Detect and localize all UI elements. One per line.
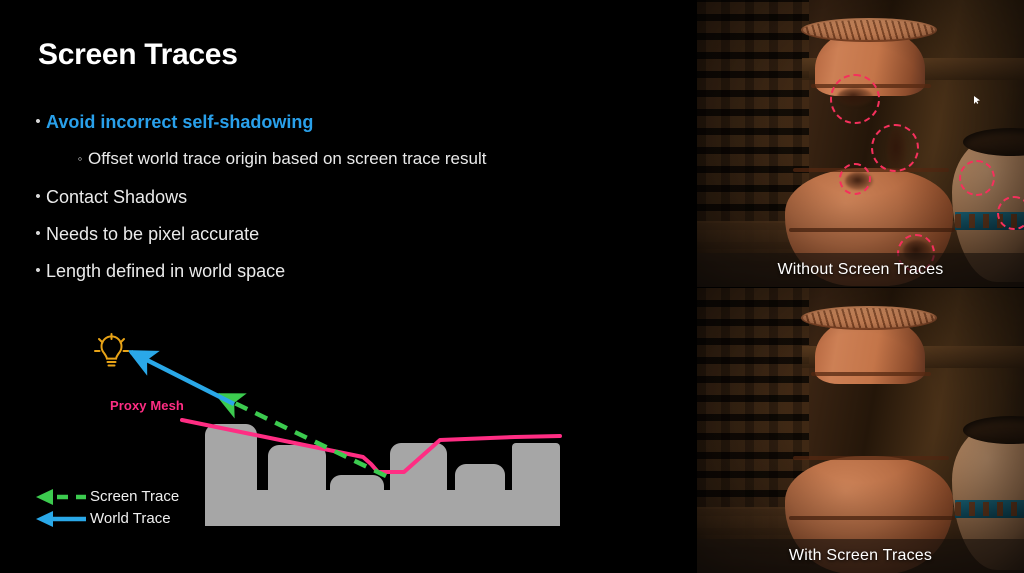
legend-item-world-trace: World Trace xyxy=(34,508,179,530)
artifact-marker-circle xyxy=(997,196,1024,230)
bullet-text: Needs to be pixel accurate xyxy=(46,222,259,246)
diagram-legend: Screen Trace World Trace xyxy=(34,486,179,530)
main-pot-band xyxy=(789,228,955,232)
legend-label: Screen Trace xyxy=(90,486,179,508)
artifact-marker-circle xyxy=(830,74,880,124)
list-item: • Avoid incorrect self-shadowing xyxy=(30,110,670,134)
legend-item-screen-trace: Screen Trace xyxy=(34,486,179,508)
bullet-text: Avoid incorrect self-shadowing xyxy=(46,110,313,134)
caption-text: With Screen Traces xyxy=(789,547,932,565)
screen-trace-glyph-icon xyxy=(34,486,90,508)
list-item: ◦ Offset world trace origin based on scr… xyxy=(72,147,670,171)
list-item: • Contact Shadows xyxy=(30,185,670,209)
comparison-image-with: With Screen Traces xyxy=(697,288,1024,573)
bullet-marker-icon: • xyxy=(30,185,46,209)
world-trace-arrow xyxy=(131,352,234,404)
bullet-marker-icon: ◦ xyxy=(72,147,88,171)
comparison-panel: Without Screen Traces With Screen Traces xyxy=(697,0,1024,573)
main-pot-rim xyxy=(801,306,937,330)
lightbulb-icon xyxy=(95,334,128,366)
page-title: Screen Traces xyxy=(38,38,238,72)
bullet-text: Offset world trace origin based on scree… xyxy=(88,147,486,171)
caption-text: Without Screen Traces xyxy=(777,261,943,279)
slide-content-panel: Screen Traces • Avoid incorrect self-sha… xyxy=(0,0,697,573)
list-item: • Length defined in world space xyxy=(30,259,670,283)
legend-label: World Trace xyxy=(90,508,171,530)
main-pot-band xyxy=(793,456,949,460)
bullet-marker-icon: • xyxy=(30,222,46,246)
bullet-list: • Avoid incorrect self-shadowing ◦ Offse… xyxy=(30,110,670,296)
caption-bar: With Screen Traces xyxy=(697,539,1024,573)
comparison-image-without: Without Screen Traces xyxy=(697,0,1024,287)
trace-diagram: Proxy Mesh Screen Trace xyxy=(0,300,697,573)
artifact-marker-circle xyxy=(871,124,919,172)
world-trace-glyph-icon xyxy=(34,508,90,530)
artifact-marker-circle xyxy=(959,160,995,196)
main-pot-band xyxy=(811,372,931,376)
list-item: • Needs to be pixel accurate xyxy=(30,222,670,246)
bullet-text: Length defined in world space xyxy=(46,259,285,283)
main-pot-rim xyxy=(801,18,937,42)
bullet-text: Contact Shadows xyxy=(46,185,187,209)
photo-scene xyxy=(697,0,1024,287)
bullet-marker-icon: • xyxy=(30,259,46,283)
diagram-canvas xyxy=(0,300,697,573)
proxy-mesh-label: Proxy Mesh xyxy=(110,398,184,413)
main-pot-band xyxy=(789,516,955,520)
caption-bar: Without Screen Traces xyxy=(697,253,1024,287)
photo-scene xyxy=(697,288,1024,573)
secondary-pot-band xyxy=(955,500,1024,518)
bullet-marker-icon: • xyxy=(30,110,46,134)
artifact-marker-circle xyxy=(839,163,871,195)
main-pot-band xyxy=(793,168,949,172)
